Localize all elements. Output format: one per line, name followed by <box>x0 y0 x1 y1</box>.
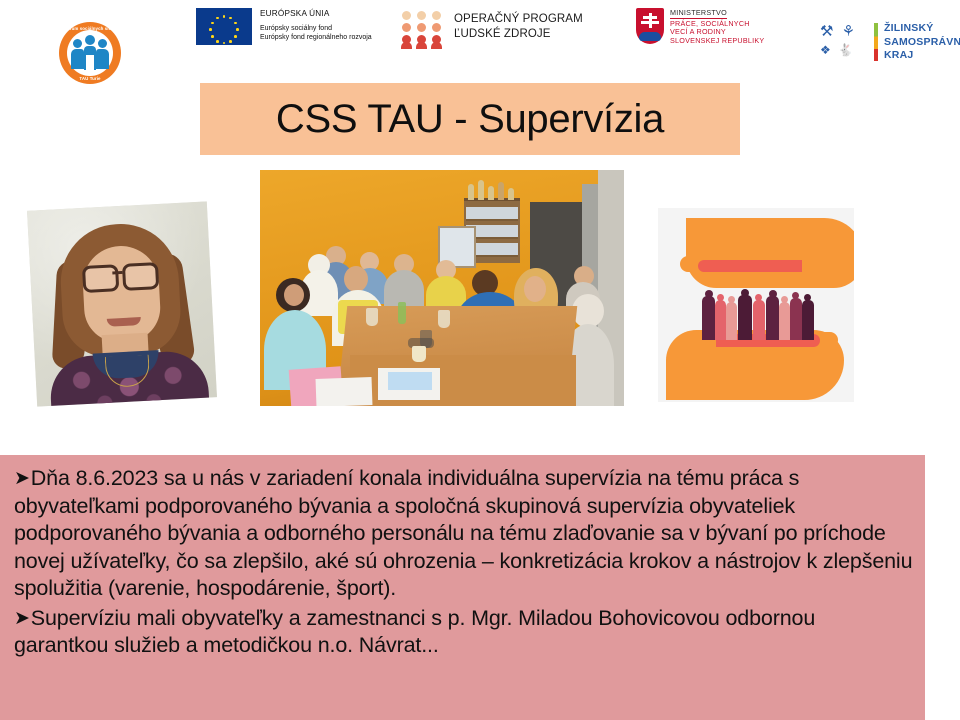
upper-hand-icon <box>686 218 854 288</box>
bullet-arrow-icon: ➤ <box>14 468 30 489</box>
zsk-line1: ŽILINSKÝ <box>884 22 960 36</box>
eu-subtitle-line1: Európsky sociálny fond <box>260 24 400 33</box>
operacny-program-logo: OPERAČNÝ PROGRAM ĽUDSKÉ ZDROJE <box>402 10 622 50</box>
zsk-folk-symbols-icon: ⚒ ⚘ ❖ 🐇 <box>820 22 872 62</box>
bullet-arrow-icon: ➤ <box>14 608 30 629</box>
tau-logo-text-bottom: TAU Turie <box>59 76 121 81</box>
eu-subtitle-line2: Európsky fond regionálneho rozvoja <box>260 33 400 42</box>
slide-title-banner: CSS TAU - Supervízia <box>200 83 740 155</box>
helping-hands-illustration <box>658 208 854 402</box>
ministerstvo-logo: MINISTERSTVO PRÁCE, SOCIÁLNYCH VECÍ A RO… <box>636 8 816 50</box>
paragraph-1-text: Dňa 8.6.2023 sa u nás v zariadení konala… <box>14 466 912 600</box>
paragraph-1: ➤Dňa 8.6.2023 sa u nás v zariadení konal… <box>14 465 913 603</box>
zilinsky-samospravny-kraj-logo: ⚒ ⚘ ❖ 🐇 ŽILINSKÝ SAMOSPRÁVNY KRAJ <box>820 22 955 66</box>
ministerstvo-line4: SLOVENSKEJ REPUBLIKY <box>670 37 764 46</box>
tau-logo-text-top: Centrum sociálnych služieb <box>59 26 121 31</box>
page-title: CSS TAU - Supervízia <box>276 97 664 142</box>
op-line2: ĽUDSKÉ ZDROJE <box>454 27 583 42</box>
tau-logo-ring-text: Centrum sociálnych služieb TAU Turie <box>59 22 121 84</box>
paragraph-2: ➤Supervíziu mali obyvateľky a zamestnanc… <box>14 605 913 660</box>
group-supervision-photo <box>260 170 624 406</box>
css-tau-turie-logo: Centrum sociálnych služieb TAU Turie <box>48 22 134 86</box>
zsk-color-bar <box>874 23 878 61</box>
zsk-line3: KRAJ <box>884 49 960 63</box>
zsk-line2: SAMOSPRÁVNY <box>884 36 960 50</box>
paragraph-2-text: Supervíziu mali obyvateľky a zamestnanci… <box>14 606 815 658</box>
op-people-dots-icon <box>402 11 446 47</box>
people-silhouettes-icon <box>702 286 814 340</box>
content-text-panel: ➤Dňa 8.6.2023 sa u nás v zariadení konal… <box>0 455 925 720</box>
slovak-coat-of-arms-icon <box>636 8 664 44</box>
eu-logo-text: EURÓPSKA ÚNIA Európsky sociálny fond Eur… <box>260 8 400 42</box>
portrait-photo <box>27 201 217 406</box>
eu-title: EURÓPSKA ÚNIA <box>260 8 400 19</box>
ministerstvo-line1: MINISTERSTVO <box>670 9 727 19</box>
european-union-logo: EURÓPSKA ÚNIA Európsky sociálny fond Eur… <box>196 8 396 50</box>
ministerstvo-logo-text: MINISTERSTVO PRÁCE, SOCIÁLNYCH VECÍ A RO… <box>670 9 764 46</box>
header-logo-strip: Centrum sociálnych služieb TAU Turie EUR… <box>0 0 960 86</box>
eu-flag-icon <box>196 8 252 45</box>
zsk-logo-text: ŽILINSKÝ SAMOSPRÁVNY KRAJ <box>884 22 960 63</box>
op-logo-text: OPERAČNÝ PROGRAM ĽUDSKÉ ZDROJE <box>454 12 583 42</box>
op-line1: OPERAČNÝ PROGRAM <box>454 12 583 27</box>
